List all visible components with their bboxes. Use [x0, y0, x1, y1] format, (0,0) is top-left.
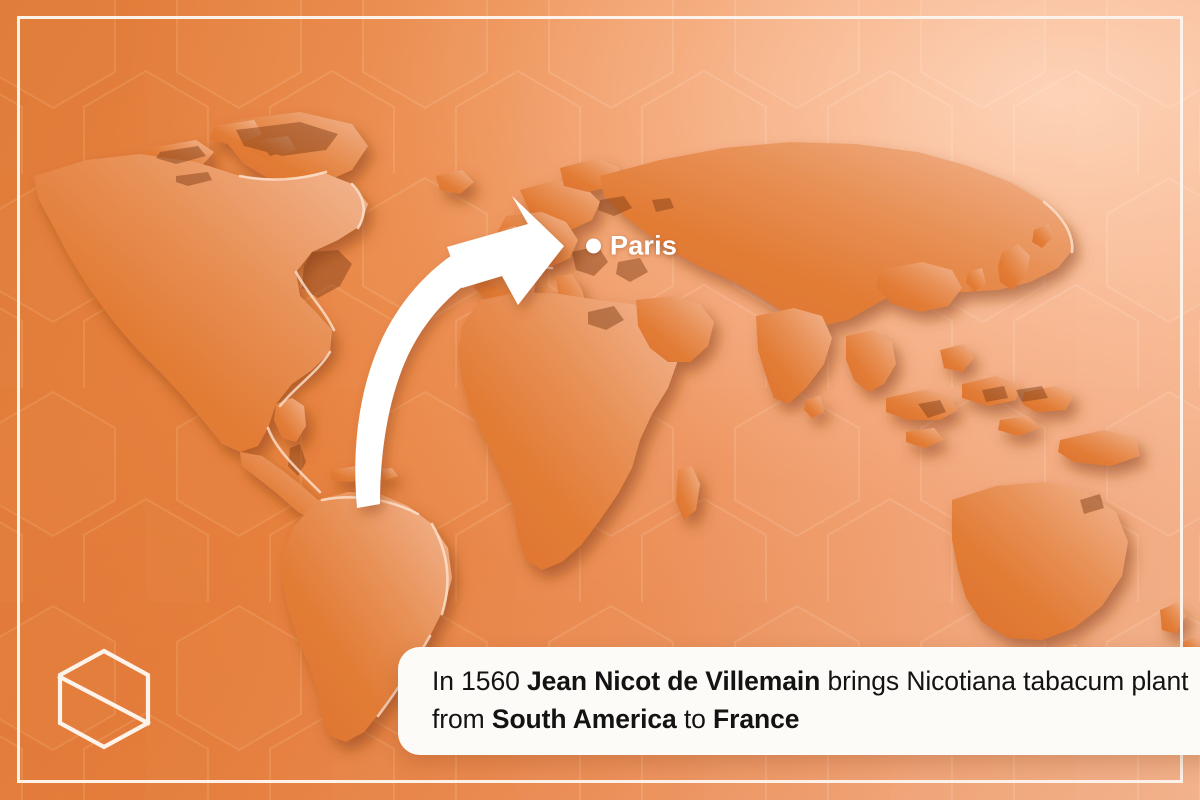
- caption-seg-3: South America: [492, 704, 677, 734]
- city-label: Paris: [610, 231, 677, 262]
- caption-seg-5: France: [713, 704, 799, 734]
- infographic-canvas: Paris In 1560 Jean Nicot de Villemain br…: [0, 0, 1200, 800]
- caption-seg-1: Jean Nicot de Villemain: [527, 666, 820, 696]
- hexagon-n-logo-icon[interactable]: [50, 643, 158, 755]
- caption-text: In 1560 Jean Nicot de Villemain brings N…: [432, 663, 1194, 738]
- city-marker-paris[interactable]: Paris: [586, 231, 677, 262]
- caption-seg-0: In 1560: [432, 666, 527, 696]
- caption-card: In 1560 Jean Nicot de Villemain brings N…: [398, 647, 1200, 755]
- city-dot-icon: [586, 239, 601, 254]
- caption-seg-4: to: [677, 704, 713, 734]
